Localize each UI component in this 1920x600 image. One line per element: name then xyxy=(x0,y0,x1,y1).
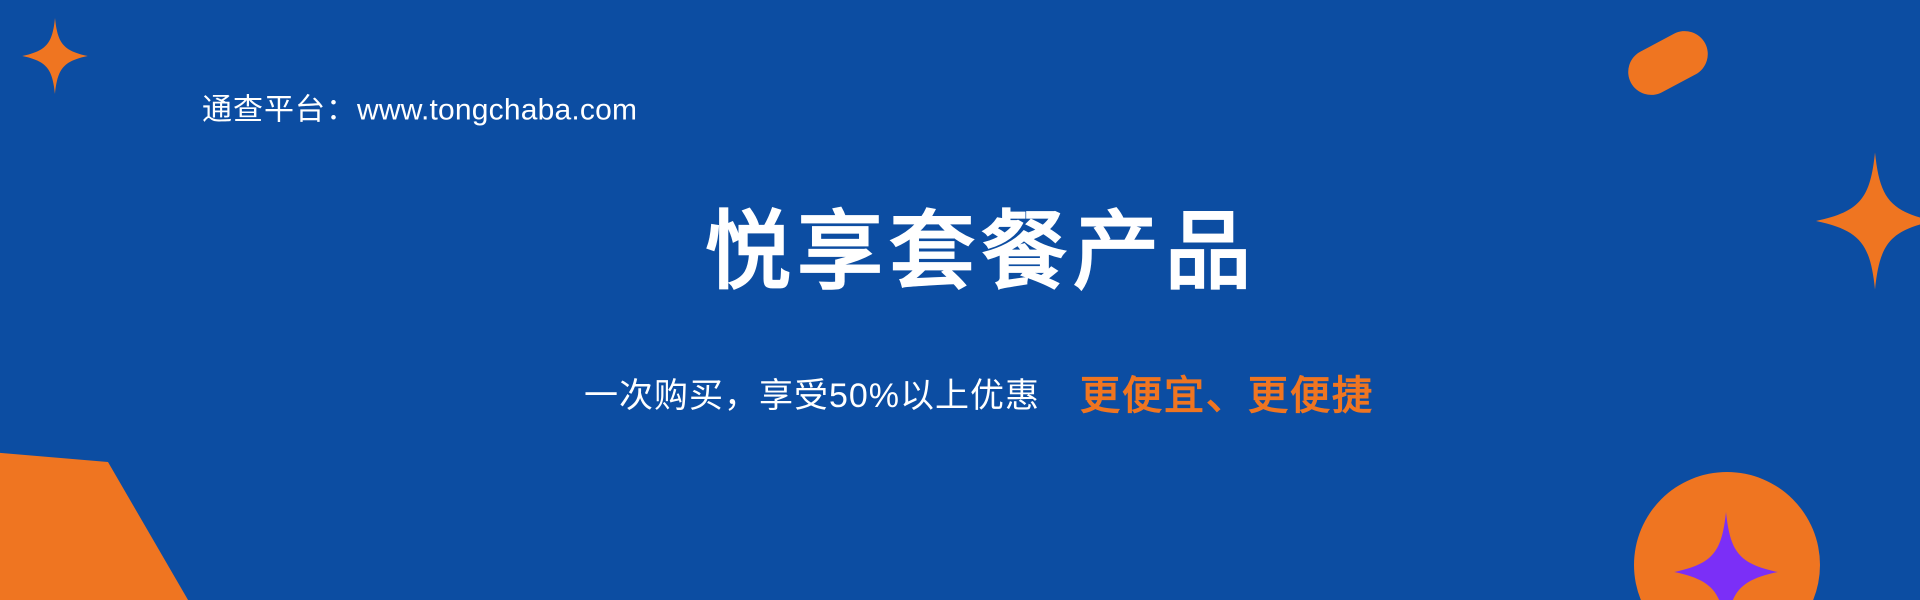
subtitle-highlight-text: 更便宜、更便捷 xyxy=(1080,363,1374,421)
subtitle-plain-text: 一次购买，享受50%以上优惠 xyxy=(584,368,1040,417)
subtitle-row: 一次购买，享受50%以上优惠 更便宜、更便捷 xyxy=(0,363,1920,421)
platform-label: 通查平台： xyxy=(202,93,357,126)
banner-content: 通查平台：www.tongchaba.com 悦享套餐产品 一次购买，享受50%… xyxy=(0,0,1920,600)
page-title: 悦享套餐产品 xyxy=(0,209,1920,295)
platform-url-line: 通查平台：www.tongchaba.com xyxy=(202,91,637,129)
promo-banner: 通查平台：www.tongchaba.com 悦享套餐产品 一次购买，享受50%… xyxy=(0,0,1920,600)
platform-url-text: www.tongchaba.com xyxy=(357,93,637,126)
